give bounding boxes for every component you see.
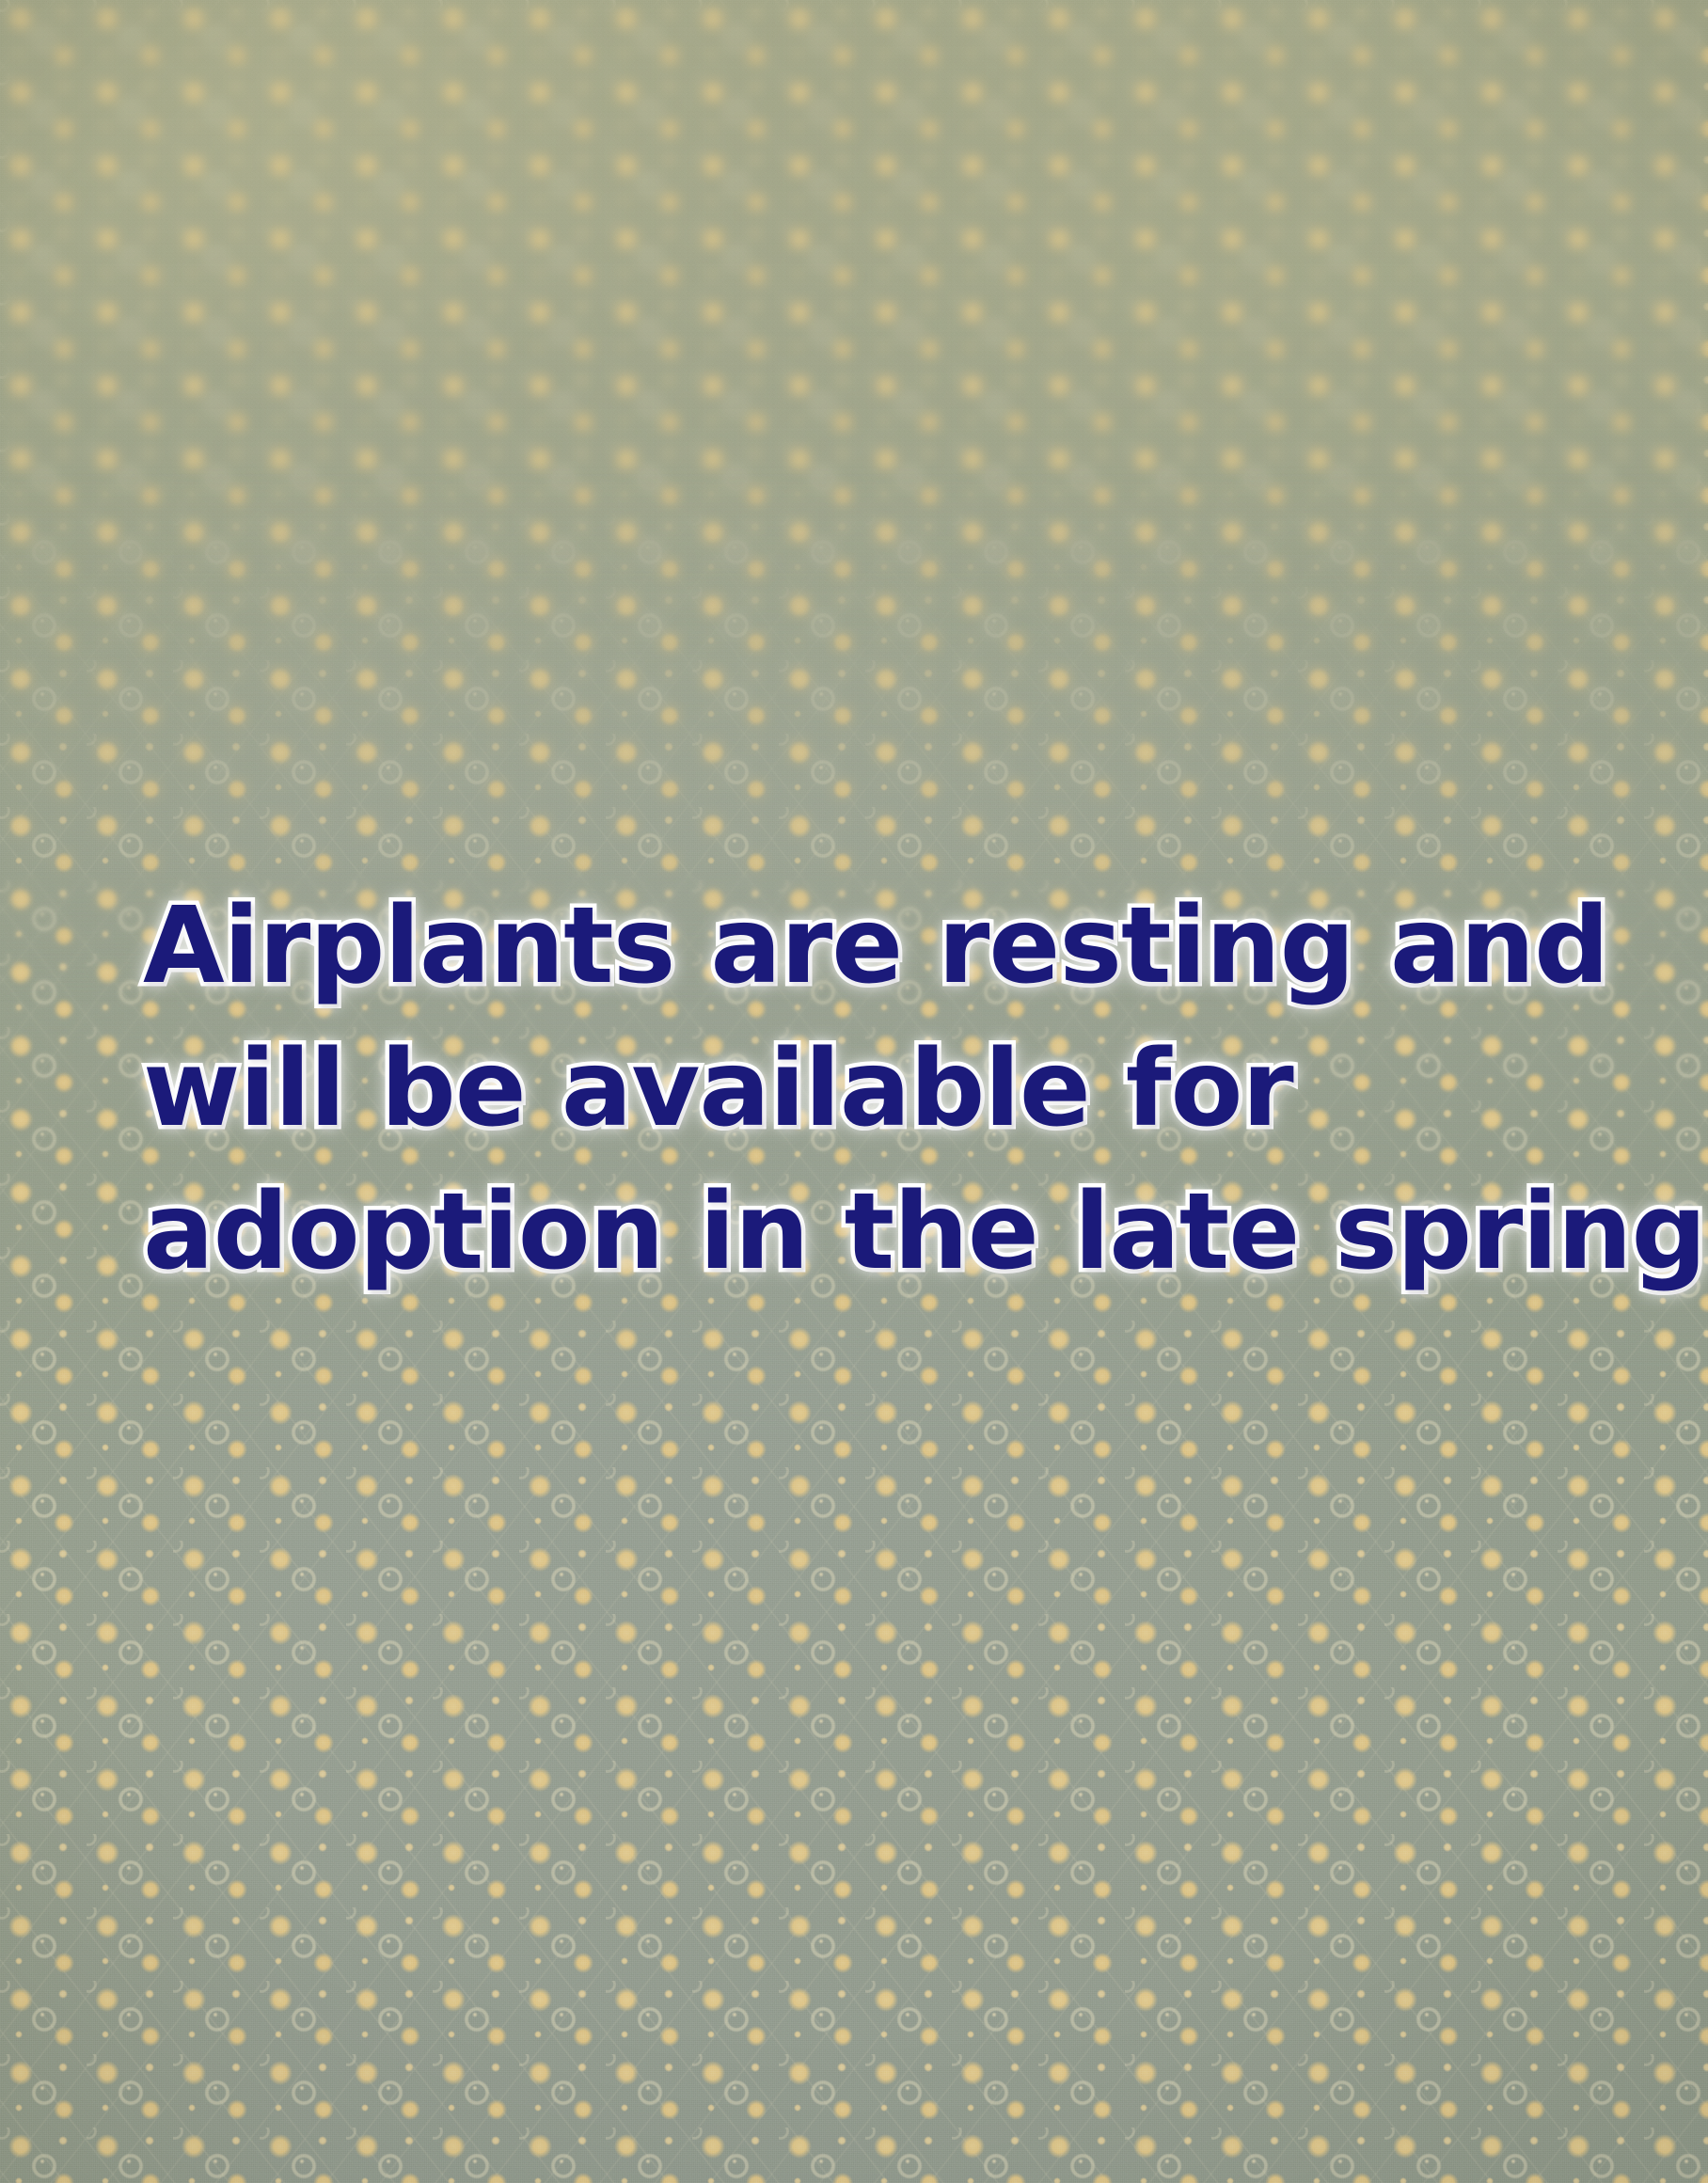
caption-line-3: adoption in the late spring. <box>143 1161 1610 1304</box>
poster-canvas: Airplants are resting and will be availa… <box>0 0 1708 2183</box>
caption-block: Airplants are resting and will be availa… <box>143 875 1610 1304</box>
caption-line-1: Airplants are resting and <box>143 875 1610 1018</box>
background-depth-of-field-blur <box>0 0 1708 1004</box>
caption-line-2: will be available for <box>143 1018 1610 1161</box>
